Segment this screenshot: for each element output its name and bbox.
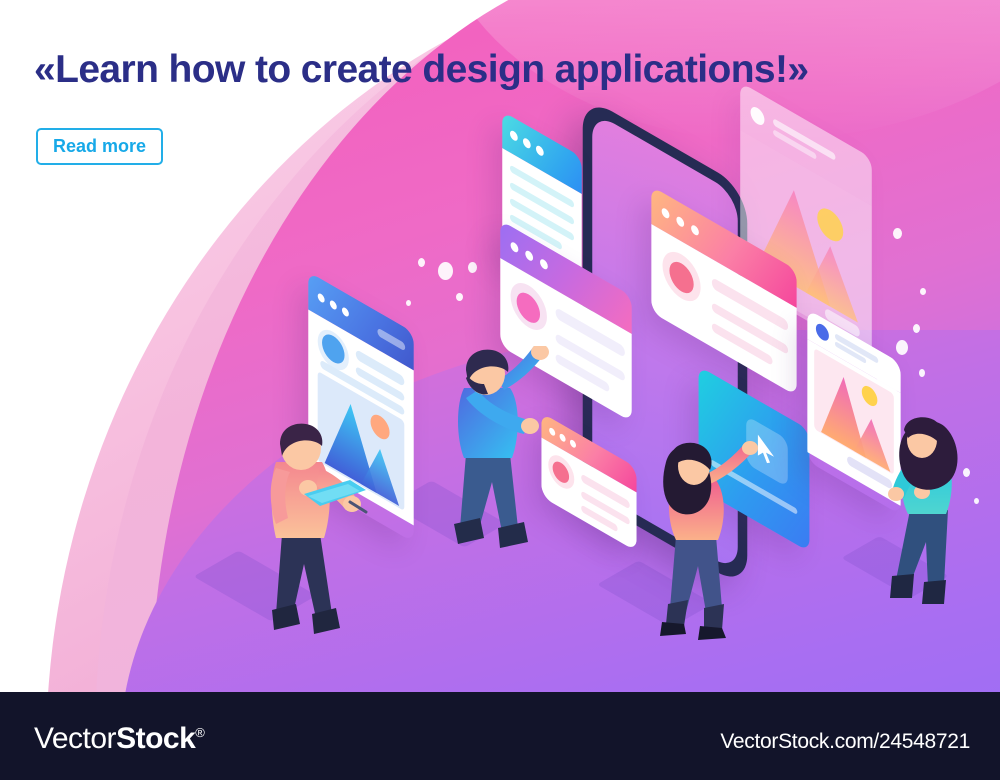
avatar — [816, 321, 829, 344]
window-dot — [662, 206, 670, 220]
window-dot — [330, 299, 337, 311]
logo-text-bold: Stock — [116, 722, 195, 755]
window-dot — [510, 129, 518, 143]
window-dot — [523, 137, 531, 151]
window-dot — [676, 215, 684, 229]
illustration-stage: «Learn how to create design applications… — [0, 0, 1000, 692]
isometric-scene — [0, 0, 1000, 692]
person-man-arranging — [440, 346, 570, 561]
watermark-footer: VectorStock® VectorStock.com/24548721 — [0, 692, 1000, 780]
window-dot — [691, 223, 699, 237]
window-dot — [525, 249, 533, 263]
registered-mark-icon: ® — [195, 725, 204, 740]
titlebar-pill — [377, 327, 405, 351]
window-dot — [540, 257, 548, 271]
person-woman-tapping — [648, 440, 778, 652]
page-title: «Learn how to create design applications… — [34, 48, 809, 92]
read-more-button[interactable]: Read more — [36, 128, 163, 165]
window-dot — [342, 306, 349, 318]
avatar — [751, 104, 765, 128]
logo-text-light: Vector — [34, 722, 116, 755]
window-dot — [536, 144, 544, 158]
window-dot — [318, 292, 325, 304]
person-woman-holding — [882, 412, 992, 630]
vectorstock-logo: VectorStock® — [34, 722, 204, 756]
window-dot — [570, 438, 576, 449]
window-dot — [511, 240, 519, 254]
person-man-with-tablet — [246, 418, 376, 653]
watermark-url: VectorStock.com/24548721 — [720, 730, 970, 754]
